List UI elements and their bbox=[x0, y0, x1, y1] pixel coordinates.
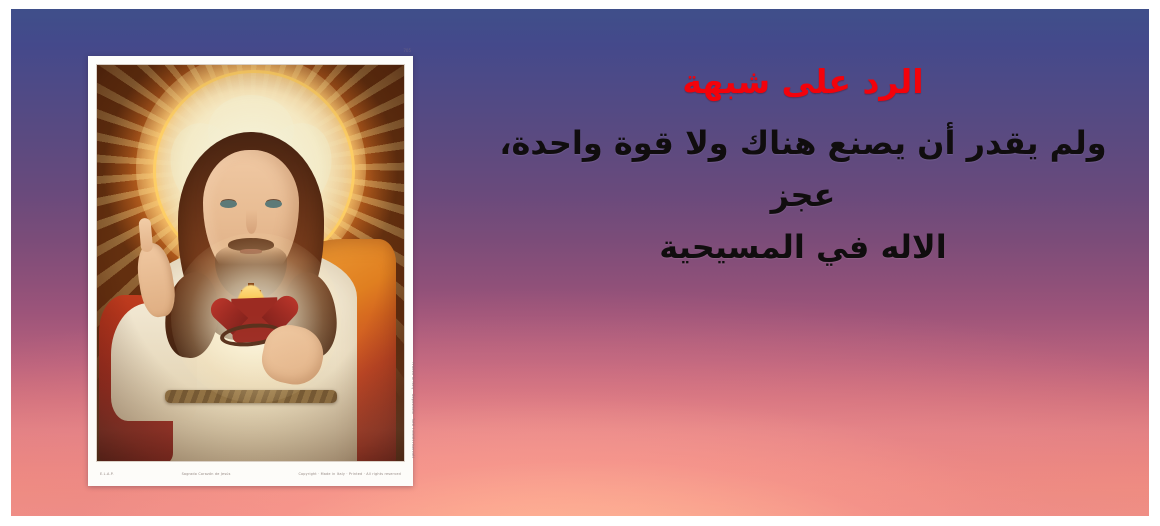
devotional-picture-frame: 705 bbox=[88, 56, 413, 486]
sunset-sky-background: 705 bbox=[11, 9, 1149, 516]
right-eye bbox=[265, 200, 282, 208]
caption-right-text: Copyright · Made in Italy · Printed · Al… bbox=[298, 472, 401, 476]
body-line-2: الاله في المسيحية bbox=[483, 222, 1123, 274]
picture-corner-code: 705 bbox=[403, 48, 411, 53]
sacred-heart-artwork bbox=[96, 64, 405, 462]
caption-left-text: E.L.A.P. bbox=[100, 472, 114, 476]
caption-center-text: Sagrado Corazón de Jesús bbox=[182, 472, 231, 476]
left-eye bbox=[220, 200, 237, 208]
picture-caption: E.L.A.P. Sagrado Corazón de Jesús Copyri… bbox=[96, 462, 405, 486]
picture-side-code: Printed in Italy · Depositato · Tutti i … bbox=[411, 362, 415, 458]
poster-canvas: 705 bbox=[0, 0, 1160, 526]
nose bbox=[246, 210, 257, 234]
arabic-text-block: الرد على شبهة ولم يقدر أن يصنع هناك ولا … bbox=[483, 61, 1123, 274]
body-line-1: ولم يقدر أن يصنع هناك ولا قوة واحدة، عجز bbox=[483, 118, 1123, 222]
headline-red: الرد على شبهة bbox=[483, 61, 1123, 102]
